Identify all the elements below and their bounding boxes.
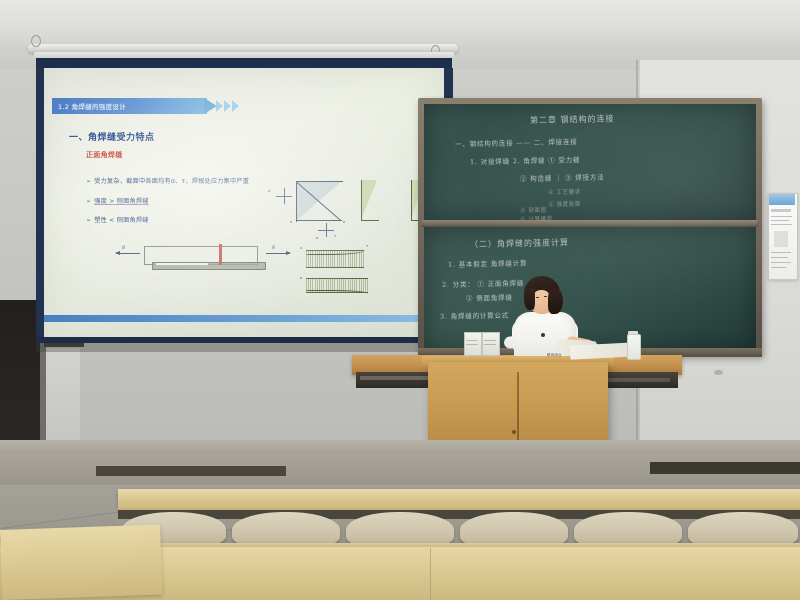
axis-label-sigma-2: σ: [316, 236, 318, 240]
shirt-logo-icon: [541, 333, 545, 337]
chalk-line-4: ④ 工艺要求: [548, 188, 581, 197]
bullet-text-2: 强度 > 侧面角焊缝: [94, 198, 148, 205]
poster-header-band: [769, 194, 795, 205]
poster-text-line: [771, 262, 791, 263]
platform-baseboard-left: [96, 466, 286, 476]
bullet-text-1: 受力复杂，截面中各面均有σ、τ，焊根处应力集中严重: [94, 178, 249, 185]
box-label-line: [484, 340, 496, 341]
poster-text-line: [771, 257, 788, 258]
stress-hatch-curve-2: [306, 290, 368, 296]
rail-hook-left-icon: [31, 35, 41, 47]
bullet-marker-icon: ➢: [86, 178, 91, 185]
hatch-label-a: a: [300, 246, 302, 250]
slide-bullet-2: ➢强度 > 侧面角焊缝: [86, 196, 149, 205]
slide-title-banner: 1.2 角焊缝的强度设计: [52, 98, 207, 114]
stress-plot-b-axis: [411, 180, 412, 221]
box-label-line: [484, 344, 496, 345]
podium-door-knob[interactable]: [512, 430, 516, 434]
chevron-right-icon: [216, 100, 223, 112]
stress-plot-a-fill: [361, 180, 377, 220]
weld-seam-marker: [219, 244, 222, 265]
chalk-lower-line-4: 3. 角焊缝的计算公式: [440, 309, 509, 320]
axis-label-tau: τ: [334, 234, 336, 238]
chevron-right-icon: [224, 100, 231, 112]
classroom-photo-scene: PROJECTA 1.2 角焊缝的强度设计 一、角焊缝受力特点 正面角焊缝 ➢受…: [0, 0, 800, 600]
podium-desk-label: 教师用台: [547, 352, 562, 357]
screen-drop-shadow: [36, 343, 453, 352]
poster-text-line: [771, 252, 791, 253]
chalk-line-6: ③ 剖面图: [520, 206, 547, 215]
poster-image-block: [774, 231, 788, 247]
chalk-line-5: ⑤ 强度验算: [548, 200, 581, 209]
lap-joint-gap: [156, 263, 208, 265]
force-arrow-right-icon: [266, 253, 290, 254]
chalk-tray-rail: [422, 220, 758, 227]
slide-banner-title: 1.2 角焊缝的强度设计: [52, 101, 126, 111]
point-label-a: a: [290, 220, 292, 224]
bullet-marker-icon: ➢: [86, 217, 91, 224]
chalk-line-title: 第二章 钢结构的连接: [530, 113, 615, 126]
slide-bullet-3: ➢塑性 < 侧面角焊缝: [86, 215, 149, 224]
poster-text-line: [771, 224, 792, 225]
ceiling: [0, 0, 800, 46]
projected-slide: 1.2 角焊缝的强度设计 一、角焊缝受力特点 正面角焊缝 ➢受力复杂，截面中各面…: [44, 68, 444, 338]
poster-text-line: [771, 216, 792, 217]
poster-text-line: [771, 267, 786, 268]
instructor-hair-side-right: [548, 288, 563, 314]
chalk-lower-line-2: 2. 分类： ① 正面角焊缝: [442, 277, 524, 289]
axis-label-sigma: σ: [268, 189, 270, 193]
desk-left-angled: [0, 524, 162, 600]
box-label-line: [466, 340, 478, 341]
hatch-label-tau: τ: [366, 244, 368, 248]
stress-plot-a-base: [361, 220, 379, 221]
stress-axis-vertical: [284, 188, 285, 204]
instructor-hair-side-left: [524, 288, 535, 310]
desk-row-back-gap: [118, 510, 800, 519]
point-label-b: b: [343, 220, 345, 224]
water-bottle: [627, 334, 641, 360]
poster-text-line: [771, 220, 789, 221]
chalk-line-3: ② 构造缝 ｜ ③ 焊接方法: [520, 171, 605, 183]
wall-scuff-mark: [714, 370, 723, 375]
force-arrow-left-icon: [116, 253, 140, 254]
chalk-lower-line-3: ② 侧面角焊缝: [466, 292, 513, 303]
platform-baseboard-right: [650, 462, 800, 474]
slide-subheading: 正面角焊缝: [86, 150, 123, 160]
desk-seam: [430, 548, 431, 600]
instructor-torso: [514, 312, 576, 360]
chalk-lower-line-1: 1. 基本假定 角焊缝计算: [448, 257, 527, 269]
poster-title-block: [771, 209, 791, 212]
slide-footer-bar: [44, 315, 444, 322]
chevron-right-icon: [232, 100, 239, 112]
chalk-lower-line-0: （二）角焊缝的强度计算: [470, 237, 569, 250]
force-label-left: N: [122, 245, 125, 250]
weld-triangle-base: [296, 220, 342, 221]
hatch-label-a2: a: [300, 276, 302, 280]
slide-bullet-1: ➢受力复杂，截面中各面均有σ、τ，焊根处应力集中严重: [86, 176, 249, 185]
slide-heading: 一、角焊缝受力特点: [69, 130, 155, 143]
force-label-right: N: [272, 245, 275, 250]
stress-axis-vertical-2: [326, 223, 327, 237]
box-label-line: [466, 344, 478, 345]
stress-plot-a-axis: [361, 180, 362, 221]
bullet-text-3: 塑性 < 侧面角焊缝: [94, 217, 148, 224]
bullet-marker-icon: ➢: [86, 198, 91, 205]
